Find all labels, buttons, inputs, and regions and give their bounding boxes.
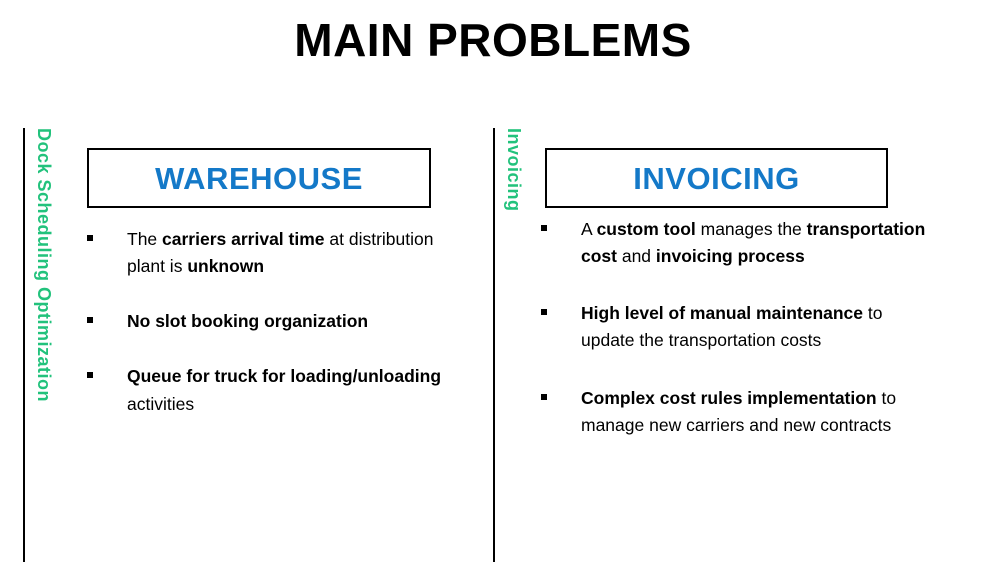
header-label-warehouse: WAREHOUSE xyxy=(155,163,363,194)
column-divider-rule xyxy=(23,128,25,562)
list-item-text: High level of manual maintenance to upda… xyxy=(581,303,883,350)
list-item: Complex cost rules implementation to man… xyxy=(541,385,931,439)
list-item: High level of manual maintenance to upda… xyxy=(541,300,931,354)
list-item-text: Queue for truck for loading/unloading ac… xyxy=(127,366,441,413)
square-bullet-icon xyxy=(87,317,93,323)
list-item: No slot booking organization xyxy=(87,308,457,335)
header-label-invoicing: INVOICING xyxy=(633,163,799,194)
column-warehouse: Dock Scheduling Optimization WAREHOUSE T… xyxy=(23,128,463,562)
square-bullet-icon xyxy=(87,372,93,378)
square-bullet-icon xyxy=(87,235,93,241)
bullet-list-invoicing: A custom tool manages the transportation… xyxy=(541,216,931,469)
square-bullet-icon xyxy=(541,309,547,315)
list-item: Queue for truck for loading/unloading ac… xyxy=(87,363,457,417)
list-item-text: Complex cost rules implementation to man… xyxy=(581,388,896,435)
square-bullet-icon xyxy=(541,225,547,231)
side-label-dock-scheduling-optimization: Dock Scheduling Optimization xyxy=(33,128,54,402)
side-label-invoicing: Invoicing xyxy=(503,128,524,212)
square-bullet-icon xyxy=(541,394,547,400)
bullet-list-warehouse: The carriers arrival time at distributio… xyxy=(87,226,457,446)
list-item: A custom tool manages the transportation… xyxy=(541,216,931,270)
page-title: MAIN PROBLEMS xyxy=(0,14,986,67)
list-item-text: A custom tool manages the transportation… xyxy=(581,219,925,266)
list-item-text: The carriers arrival time at distributio… xyxy=(127,229,433,276)
header-box-warehouse: WAREHOUSE xyxy=(87,148,431,208)
list-item-text: No slot booking organization xyxy=(127,311,368,331)
column-invoicing: Invoicing INVOICING A custom tool manage… xyxy=(493,128,923,562)
header-box-invoicing: INVOICING xyxy=(545,148,888,208)
list-item: The carriers arrival time at distributio… xyxy=(87,226,457,280)
column-divider-rule xyxy=(493,128,495,562)
